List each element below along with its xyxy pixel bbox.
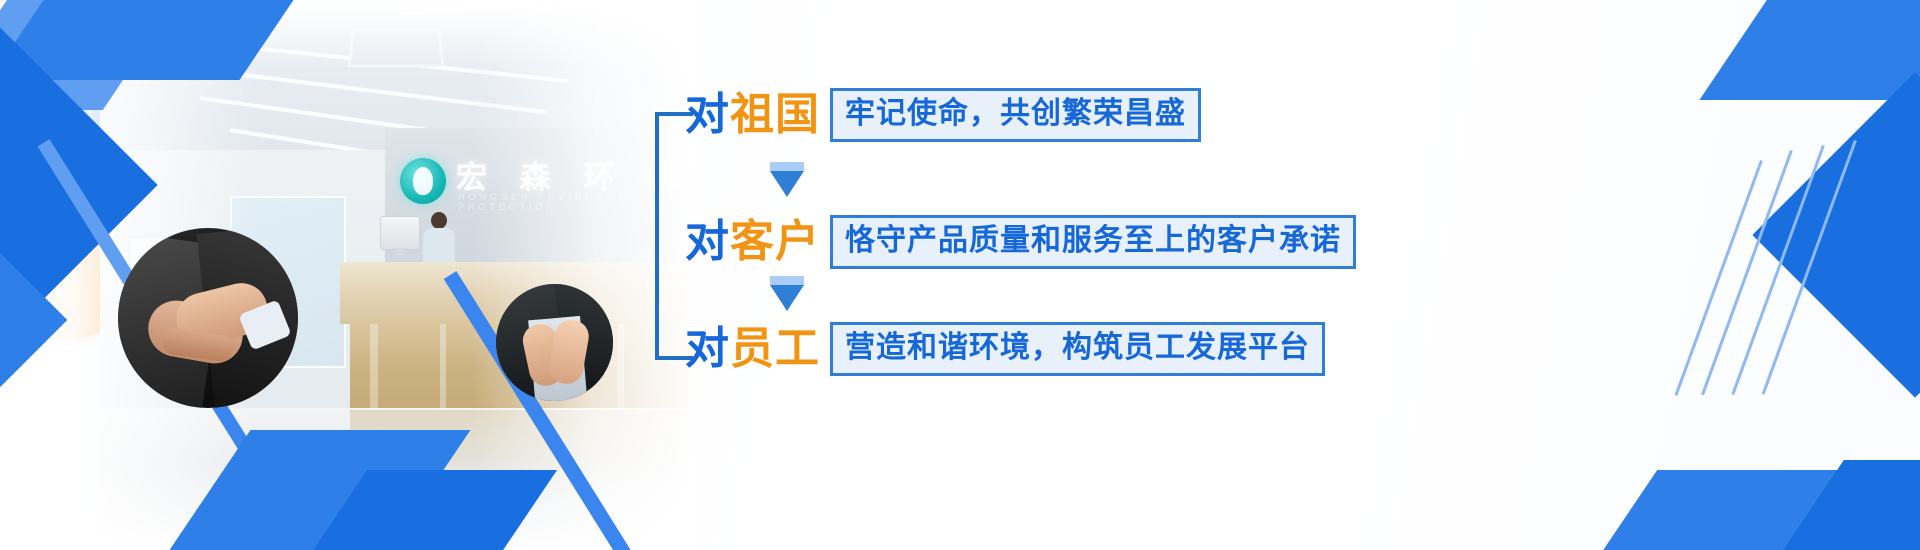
decor-parallelogram-top-right: [1699, 0, 1920, 100]
lead-label-nation: 对祖国: [685, 93, 820, 137]
lead-keyword-customer: 客户: [730, 216, 820, 267]
lead-prefix-nation: 对: [685, 89, 730, 140]
statement-badge-nation: 牢记使命，共创繁荣昌盛: [830, 88, 1201, 142]
handshake-circle-photo: [118, 228, 298, 408]
arrow-down-icon-2: [770, 276, 804, 311]
decor-thin-line-1: [1674, 160, 1762, 396]
statement-row-employee: 对员工 营造和谐环境，构筑员工发展平台: [685, 322, 1325, 376]
statement-badge-employee: 营造和谐环境，构筑员工发展平台: [830, 322, 1325, 376]
company-culture-banner: 宏 森 环 保 HONGSEN ENVIRONMENTAL PROTECTION: [0, 0, 1920, 550]
statement-badge-customer: 恪守产品质量和服务至上的客户承诺: [830, 215, 1356, 269]
arrow-down-icon-1: [770, 162, 804, 197]
culture-statements: 对祖国 牢记使命，共创繁荣昌盛 对客户 恪守产品质量和服务至上的客户承诺 对员工…: [650, 0, 1350, 550]
applause-circle-photo: [496, 284, 613, 401]
lead-prefix-customer: 对: [685, 216, 730, 267]
reception-monitor: [380, 216, 420, 250]
lead-prefix-employee: 对: [685, 323, 730, 374]
lead-keyword-employee: 员工: [730, 323, 820, 374]
lead-label-employee: 对员工: [685, 327, 820, 371]
lead-label-customer: 对客户: [685, 220, 820, 264]
statement-row-nation: 对祖国 牢记使命，共创繁荣昌盛: [685, 88, 1201, 142]
company-logo-icon: [400, 158, 446, 204]
lead-keyword-nation: 祖国: [730, 89, 820, 140]
statement-row-customer: 对客户 恪守产品质量和服务至上的客户承诺: [685, 215, 1356, 269]
